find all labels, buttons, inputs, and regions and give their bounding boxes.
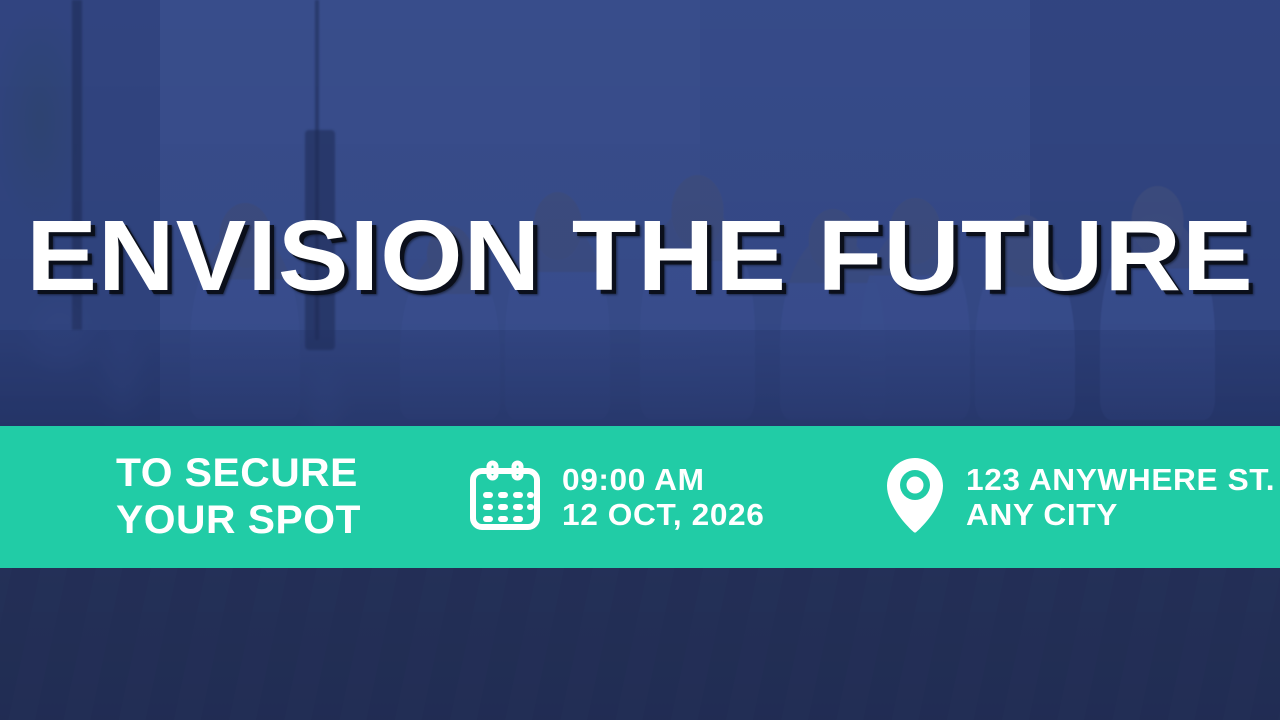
calendar-icon xyxy=(468,458,542,537)
page-title: ENVISION THE FUTURE xyxy=(26,206,1253,306)
address-line-1: 123 ANYWHERE ST. xyxy=(966,462,1275,497)
cta-block: TO SECURE YOUR SPOT xyxy=(116,450,356,544)
cta-line-1: TO SECURE xyxy=(116,450,361,497)
event-time: 09:00 AM xyxy=(562,462,764,497)
hero-section: ENVISION THE FUTURE xyxy=(0,206,1280,306)
cta-line-2: YOUR SPOT xyxy=(116,497,361,544)
map-pin-icon xyxy=(884,456,946,539)
event-date: 12 OCT, 2026 xyxy=(562,497,764,532)
address-line-2: ANY CITY xyxy=(966,497,1275,532)
contact-bar: +123-456-7890 Mail@brandname.com xyxy=(0,568,1280,720)
location-block: 123 ANYWHERE ST. ANY CITY xyxy=(884,456,1269,539)
info-band: TO SECURE YOUR SPOT xyxy=(0,426,1280,568)
event-poster: ENVISION THE FUTURE TO SECURE YOUR SPOT xyxy=(0,0,1280,720)
datetime-block: 09:00 AM 12 OCT, 2026 xyxy=(468,458,760,537)
